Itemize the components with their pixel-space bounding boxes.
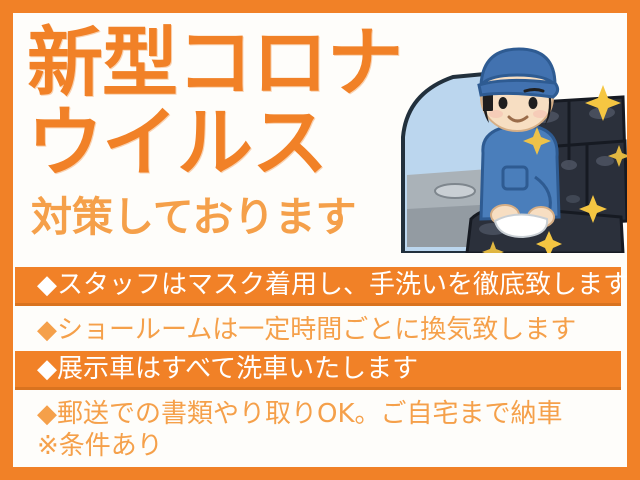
headline-line-2: ウイルス — [27, 105, 327, 181]
bullet-list: ◆スタッフはマスク着用し、手洗いを徹底致します ◆ショールームは一定時間ごとに換… — [13, 254, 627, 467]
bullet-band-1: ◆スタッフはマスク着用し、手洗いを徹底致します — [15, 267, 621, 306]
headline-subtitle: 対策しております — [31, 197, 357, 238]
bullet-band-2: ◆ショールームは一定時間ごとに換気致します — [15, 309, 621, 351]
bullet-text-4: ◆郵送での書類やり取りOK。ご自宅まで納車 — [15, 400, 563, 428]
bullet-band-3: ◆展示車はすべて洗車いたします — [15, 351, 621, 390]
headline-line-1: 新型コロナ — [27, 25, 402, 101]
poster-inner-panel: 新型コロナ ウイルス 対策しております — [13, 13, 627, 467]
bullet-band-4: ◆郵送での書類やり取りOK。ご自宅まで納車 — [15, 393, 621, 435]
condition-note: ※条件あり — [15, 432, 621, 460]
headline-block: 新型コロナ ウイルス 対策しております — [13, 13, 433, 253]
bullet-text-3: ◆展示車はすべて洗車いたします — [15, 355, 418, 383]
covid-countermeasure-poster: 新型コロナ ウイルス 対策しております — [0, 0, 640, 480]
car-seat-cleaning-illustration — [397, 41, 627, 253]
bullet-text-2: ◆ショールームは一定時間ごとに換気致します — [15, 316, 576, 344]
bullet-text-1: ◆スタッフはマスク着用し、手洗いを徹底致します — [15, 271, 627, 299]
